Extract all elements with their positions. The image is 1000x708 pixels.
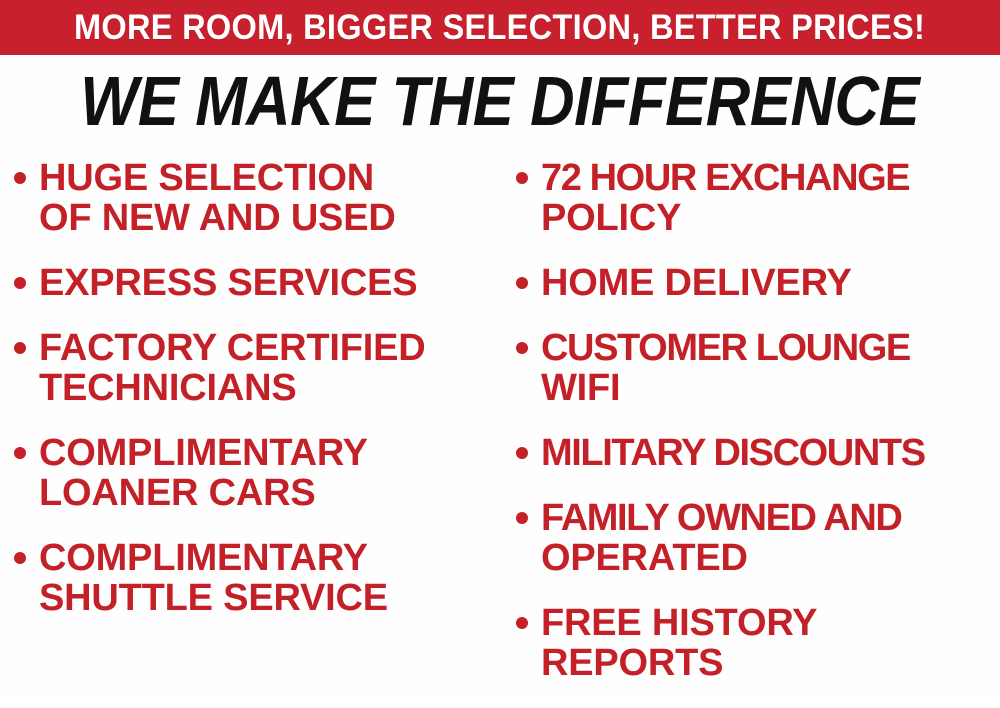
list-item-text: COMPLIMENTARY SHUTTLE SERVICE bbox=[39, 538, 500, 618]
list-item: FREE HISTORY REPORTS bbox=[516, 603, 1000, 683]
list-item-text: HOME DELIVERY bbox=[541, 263, 1000, 303]
list-item-line: FREE HISTORY bbox=[541, 603, 1000, 643]
list-item-text: HUGE SELECTION OF NEW AND USED bbox=[39, 158, 500, 238]
list-item-line: WIFI bbox=[541, 368, 1000, 408]
page-title-row: WE MAKE THE DIFFERENCE bbox=[0, 62, 1000, 140]
promotional-banner: MORE ROOM, BIGGER SELECTION, BETTER PRIC… bbox=[0, 0, 1000, 694]
bullet-dot-icon bbox=[516, 172, 528, 184]
list-item-line: FAMILY OWNED AND bbox=[541, 498, 1000, 538]
features-columns: HUGE SELECTION OF NEW AND USED EXPRESS S… bbox=[0, 158, 1000, 694]
header-banner-bar: MORE ROOM, BIGGER SELECTION, BETTER PRIC… bbox=[0, 0, 1000, 55]
list-item-text: EXPRESS SERVICES bbox=[39, 263, 500, 303]
list-item-line: HOME DELIVERY bbox=[541, 263, 1000, 303]
list-item-text: MILITARY DISCOUNTS bbox=[541, 433, 1000, 473]
bullet-dot-icon bbox=[14, 552, 26, 564]
list-item-text: FAMILY OWNED AND OPERATED bbox=[541, 498, 1000, 578]
list-item: 72 HOUR EXCHANGE POLICY bbox=[516, 158, 1000, 238]
list-item-line: COMPLIMENTARY bbox=[39, 433, 500, 473]
list-item-line: CUSTOMER LOUNGE bbox=[541, 328, 1000, 368]
bullet-dot-icon bbox=[516, 447, 528, 459]
list-item-line: EXPRESS SERVICES bbox=[39, 263, 500, 303]
list-item-line: HUGE SELECTION bbox=[39, 158, 500, 198]
page-title: WE MAKE THE DIFFERENCE bbox=[80, 66, 919, 136]
list-item: CUSTOMER LOUNGE WIFI bbox=[516, 328, 1000, 408]
list-item: MILITARY DISCOUNTS bbox=[516, 433, 1000, 473]
list-item: EXPRESS SERVICES bbox=[14, 263, 500, 303]
list-item-line: REPORTS bbox=[541, 643, 1000, 683]
list-item: HUGE SELECTION OF NEW AND USED bbox=[14, 158, 500, 238]
list-item-line: LOANER CARS bbox=[39, 473, 500, 513]
list-item-text: FREE HISTORY REPORTS bbox=[541, 603, 1000, 683]
bullet-dot-icon bbox=[14, 277, 26, 289]
list-item-text: FACTORY CERTIFIED TECHNICIANS bbox=[39, 328, 500, 408]
list-item-line: MILITARY DISCOUNTS bbox=[541, 433, 1000, 473]
bullet-dot-icon bbox=[14, 172, 26, 184]
list-item: FACTORY CERTIFIED TECHNICIANS bbox=[14, 328, 500, 408]
list-item-line: POLICY bbox=[541, 198, 1000, 238]
list-item: FAMILY OWNED AND OPERATED bbox=[516, 498, 1000, 578]
features-column-left: HUGE SELECTION OF NEW AND USED EXPRESS S… bbox=[14, 158, 500, 643]
list-item-line: TECHNICIANS bbox=[39, 368, 500, 408]
list-item-text: 72 HOUR EXCHANGE POLICY bbox=[541, 158, 1000, 238]
list-item-text: COMPLIMENTARY LOANER CARS bbox=[39, 433, 500, 513]
list-item-text: CUSTOMER LOUNGE WIFI bbox=[541, 328, 1000, 408]
list-item: COMPLIMENTARY SHUTTLE SERVICE bbox=[14, 538, 500, 618]
list-item-line: FACTORY CERTIFIED bbox=[39, 328, 500, 368]
features-column-right: 72 HOUR EXCHANGE POLICY HOME DELIVERY CU… bbox=[516, 158, 1000, 708]
bullet-dot-icon bbox=[516, 512, 528, 524]
bullet-dot-icon bbox=[516, 342, 528, 354]
list-item-line: COMPLIMENTARY bbox=[39, 538, 500, 578]
list-item: COMPLIMENTARY LOANER CARS bbox=[14, 433, 500, 513]
header-tagline: MORE ROOM, BIGGER SELECTION, BETTER PRIC… bbox=[74, 10, 925, 45]
bullet-dot-icon bbox=[516, 617, 528, 629]
list-item-line: OF NEW AND USED bbox=[39, 198, 500, 238]
list-item-line: OPERATED bbox=[541, 538, 1000, 578]
bullet-dot-icon bbox=[14, 447, 26, 459]
bullet-dot-icon bbox=[516, 277, 528, 289]
list-item-line: SHUTTLE SERVICE bbox=[39, 578, 500, 618]
list-item: HOME DELIVERY bbox=[516, 263, 1000, 303]
bullet-dot-icon bbox=[14, 342, 26, 354]
list-item-line: 72 HOUR EXCHANGE bbox=[541, 158, 1000, 198]
